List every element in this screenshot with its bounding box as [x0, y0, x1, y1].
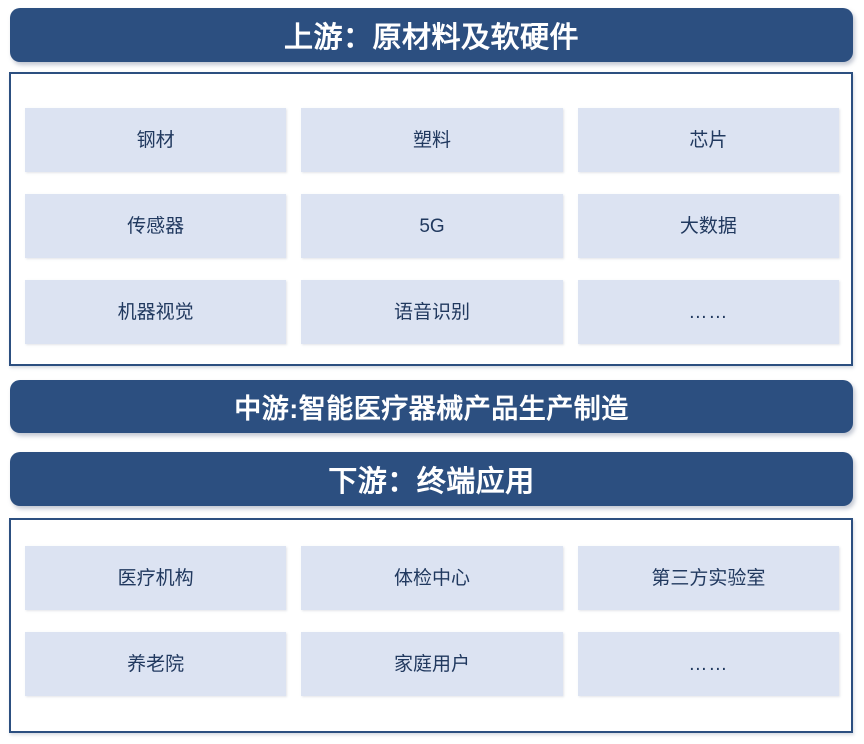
section-header-upstream-label: 上游：原材料及软硬件 — [284, 14, 579, 56]
downstream-item-nursing-home: 养老院 — [25, 632, 286, 696]
cell-label: 医疗机构 — [118, 569, 194, 588]
cell-label: …… — [688, 303, 728, 322]
upstream-item-5g: 5G — [301, 194, 562, 258]
panel-upstream-inner: 钢材 塑料 芯片 传感器 5G 大数据 — [25, 74, 839, 364]
industry-chain-diagram: 上游：原材料及软硬件 钢材 塑料 芯片 传感器 5G — [0, 0, 864, 744]
section-header-midstream-label: 中游:智能医疗器械产品生产制造 — [234, 387, 629, 426]
cell-label: 机器视觉 — [118, 303, 194, 322]
upstream-item-sensor: 传感器 — [25, 194, 286, 258]
panel-downstream-inner: 医疗机构 体检中心 第三方实验室 养老院 家庭用户 …… — [25, 520, 839, 731]
downstream-row-2: 养老院 家庭用户 …… — [25, 632, 839, 696]
downstream-item-household-user: 家庭用户 — [301, 632, 562, 696]
downstream-item-medical-institution: 医疗机构 — [25, 546, 286, 610]
upstream-row-3: 机器视觉 语音识别 …… — [25, 280, 839, 344]
upstream-item-steel: 钢材 — [25, 108, 286, 172]
cell-label: 芯片 — [689, 131, 727, 150]
cell-label: 塑料 — [413, 131, 451, 150]
cell-label: 大数据 — [680, 217, 737, 236]
upstream-row-1: 钢材 塑料 芯片 — [25, 108, 839, 172]
upstream-item-plastic: 塑料 — [301, 108, 562, 172]
cell-label: …… — [688, 655, 728, 674]
cell-label: 语音识别 — [394, 303, 470, 322]
upstream-row-2: 传感器 5G 大数据 — [25, 194, 839, 258]
section-header-downstream-label: 下游：终端应用 — [328, 458, 535, 500]
downstream-item-ellipsis: …… — [578, 632, 839, 696]
cell-label: 家庭用户 — [394, 655, 470, 674]
downstream-row-1: 医疗机构 体检中心 第三方实验室 — [25, 546, 839, 610]
panel-upstream: 钢材 塑料 芯片 传感器 5G 大数据 — [9, 72, 853, 366]
section-header-midstream: 中游:智能医疗器械产品生产制造 — [10, 380, 853, 433]
section-header-upstream: 上游：原材料及软硬件 — [10, 8, 853, 62]
upstream-item-machine-vision: 机器视觉 — [25, 280, 286, 344]
cell-label: 钢材 — [137, 131, 175, 150]
downstream-item-health-checkup-center: 体检中心 — [301, 546, 562, 610]
upstream-item-ellipsis: …… — [578, 280, 839, 344]
section-header-downstream: 下游：终端应用 — [10, 452, 853, 506]
upstream-item-chip: 芯片 — [578, 108, 839, 172]
downstream-item-third-party-lab: 第三方实验室 — [578, 546, 839, 610]
cell-label: 传感器 — [127, 217, 184, 236]
cell-label: 第三方实验室 — [651, 569, 765, 588]
cell-label: 养老院 — [127, 655, 184, 674]
upstream-item-big-data: 大数据 — [578, 194, 839, 258]
panel-downstream: 医疗机构 体检中心 第三方实验室 养老院 家庭用户 …… — [9, 518, 853, 733]
cell-label: 5G — [419, 217, 444, 236]
cell-label: 体检中心 — [394, 569, 470, 588]
upstream-item-speech-recognition: 语音识别 — [301, 280, 562, 344]
